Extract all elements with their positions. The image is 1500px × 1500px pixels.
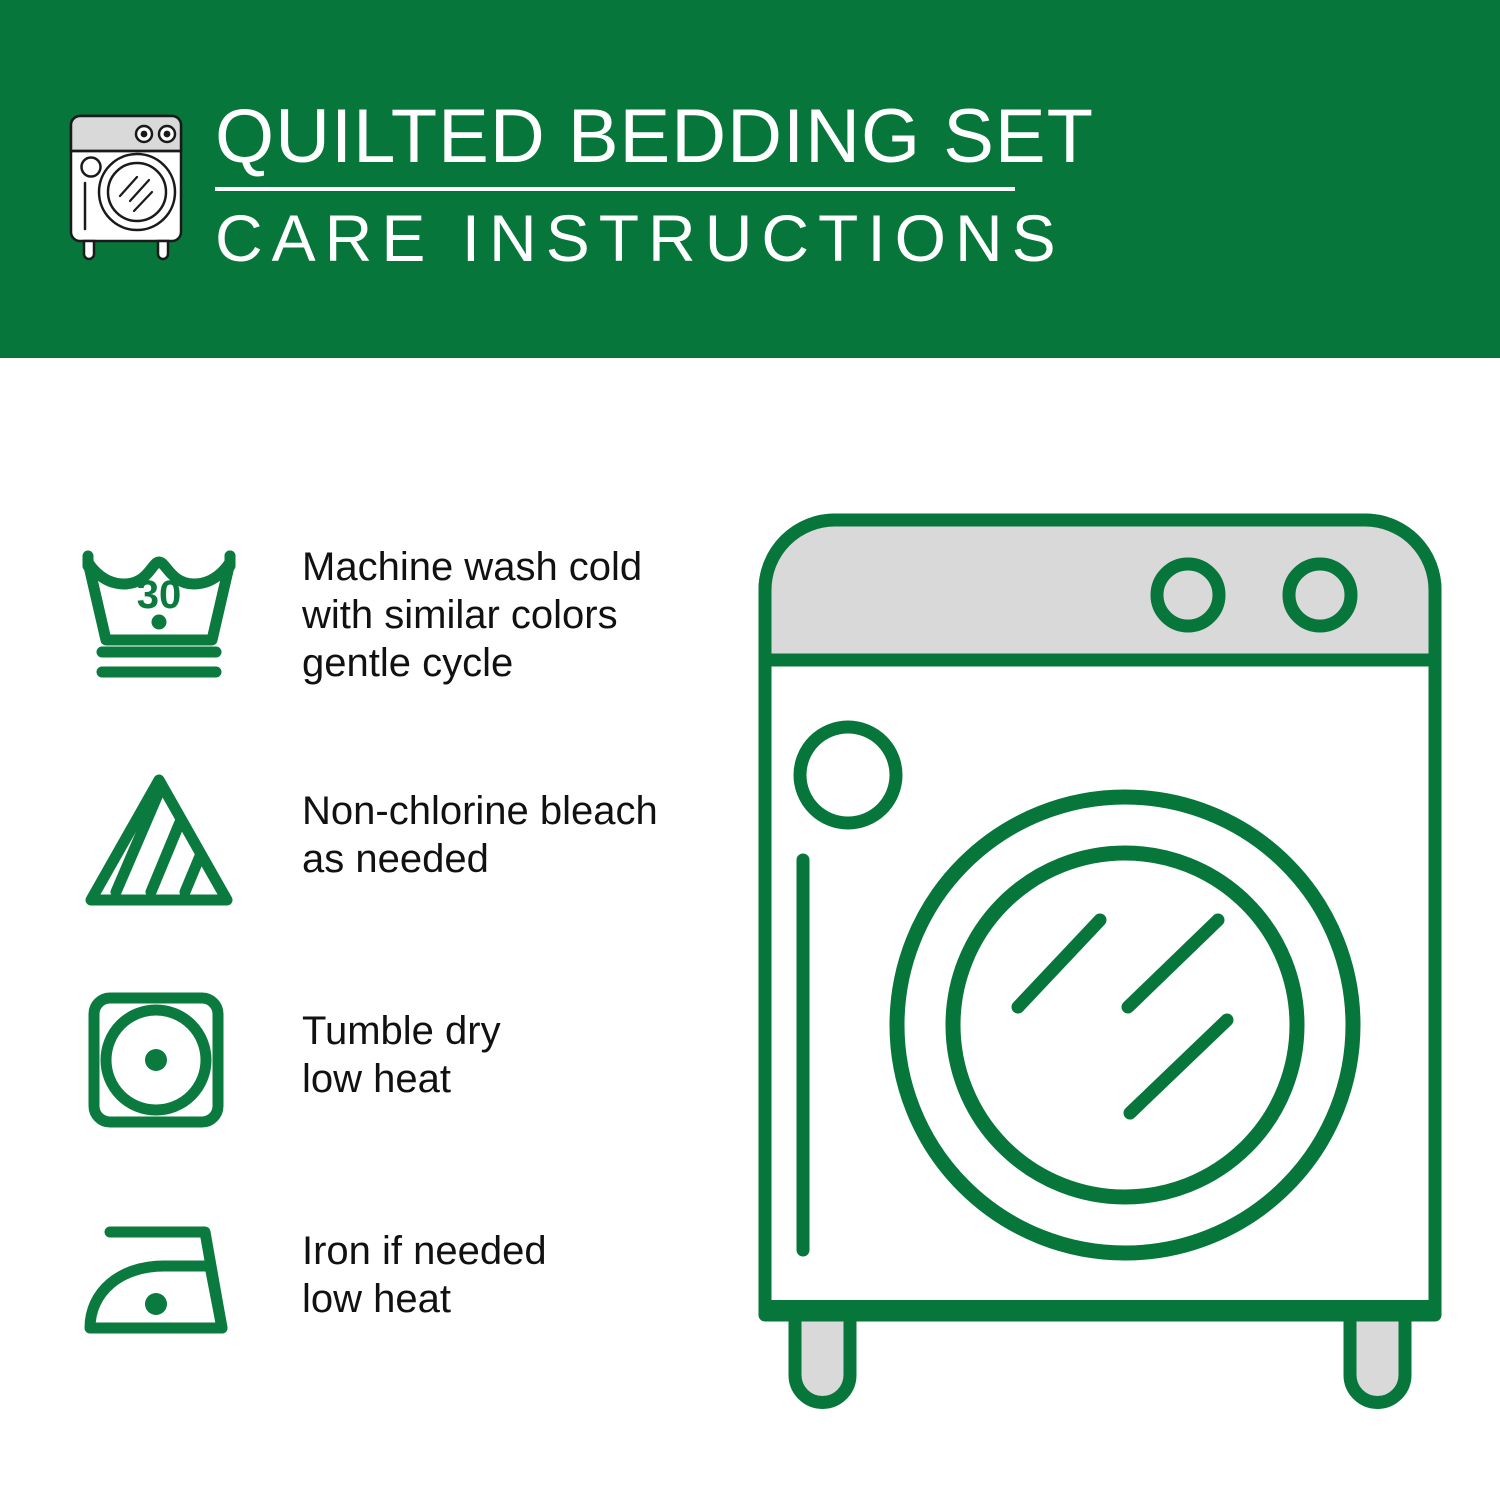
instruction-row-iron: Iron if needed low heat: [72, 1165, 712, 1385]
instruction-row-bleach: Non-chlorine bleach as needed: [72, 725, 712, 945]
title-divider: [215, 187, 1015, 191]
wash-tub-30-icon: 30: [72, 540, 247, 690]
instruction-line: Tumble dry: [302, 1007, 501, 1055]
instruction-line: gentle cycle: [302, 639, 642, 687]
instruction-line: as needed: [302, 835, 658, 883]
instruction-text-machine-wash: Machine wash cold with similar colors ge…: [247, 543, 642, 687]
instructions-list: 30 Machine wash cold with similar colors…: [72, 505, 712, 1385]
instruction-line: Non-chlorine bleach: [302, 787, 658, 835]
instruction-line: Machine wash cold: [302, 543, 642, 591]
instruction-line: Iron if needed: [302, 1227, 547, 1275]
wash-temperature-label: 30: [137, 573, 182, 617]
washing-machine-icon: [58, 103, 203, 263]
tumble-dry-icon: [72, 980, 247, 1130]
control-panel: [765, 520, 1435, 660]
instruction-line: with similar colors: [302, 591, 642, 639]
page-title: QUILTED BEDDING SET: [215, 95, 1035, 179]
instruction-line: low heat: [302, 1055, 501, 1103]
care-instructions-page: QUILTED BEDDING SET CARE INSTRUCTIONS 30: [0, 0, 1500, 1500]
instruction-text-iron: Iron if needed low heat: [247, 1227, 547, 1323]
header-band: QUILTED BEDDING SET CARE INSTRUCTIONS: [0, 0, 1500, 358]
washing-machine-illustration: [740, 495, 1460, 1425]
bleach-triangle-icon: [72, 760, 247, 910]
instruction-row-machine-wash: 30 Machine wash cold with similar colors…: [72, 505, 712, 725]
instruction-text-tumble-dry: Tumble dry low heat: [247, 1007, 501, 1103]
header-subtitle: CARE INSTRUCTIONS: [215, 201, 1035, 275]
instruction-row-tumble-dry: Tumble dry low heat: [72, 945, 712, 1165]
instruction-line: low heat: [302, 1275, 547, 1323]
header-text-block: QUILTED BEDDING SET CARE INSTRUCTIONS: [215, 95, 1035, 275]
instruction-text-bleach: Non-chlorine bleach as needed: [247, 787, 658, 883]
iron-icon: [72, 1200, 247, 1350]
